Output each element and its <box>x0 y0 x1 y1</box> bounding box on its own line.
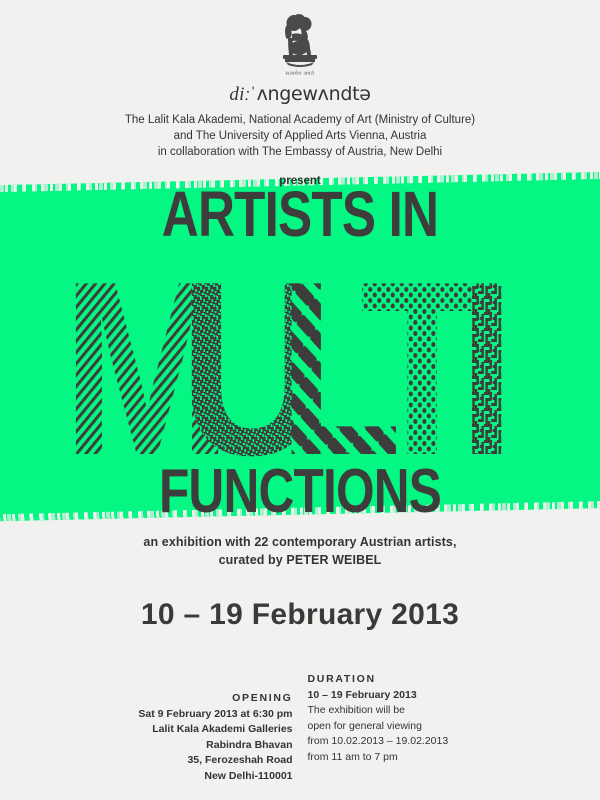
opening-line-3: Rabindra Bhavan <box>118 738 293 754</box>
poster-canvas: सत्यमेव जयते diːˈʌngewʌndtə The Lalit Ka… <box>0 0 600 800</box>
tagline-line-1: an exhibition with 22 contemporary Austr… <box>0 533 600 551</box>
ashoka-lion-capital-emblem <box>272 12 328 74</box>
duration-dates: 10 – 19 February 2013 <box>308 688 483 704</box>
tagline-line-2: curated by PETER WEIBEL <box>0 551 600 569</box>
duration-line-1: The exhibition will be <box>308 703 483 719</box>
angewandte-wordmark: diːˈʌngewʌndtə <box>0 83 600 106</box>
tagline-block: an exhibition with 22 contemporary Austr… <box>0 533 600 569</box>
duration-column: DURATION 10 – 19 February 2013 The exhib… <box>293 672 483 765</box>
emblem-caption: सत्यमेव जयते <box>0 71 600 77</box>
presenter-line-1: The Lalit Kala Akademi, National Academy… <box>0 112 600 128</box>
opening-line-5: New Delhi-110001 <box>118 769 293 785</box>
opening-heading: OPENING <box>118 691 293 707</box>
duration-line-2: open for general viewing <box>308 719 483 735</box>
poster-header: सत्यमेव जयते diːˈʌngewʌndtə <box>0 12 600 106</box>
presenter-line-3: in collaboration with The Embassy of Aus… <box>0 144 600 160</box>
duration-line-4: from 11 am to 7 pm <box>308 750 483 766</box>
multi-letter-I: I <box>458 248 510 468</box>
exhibition-dates-headline: 10 – 19 February 2013 <box>0 598 600 632</box>
title-line-artists-in: ARTISTS IN <box>60 182 540 246</box>
info-columns: OPENING Sat 9 February 2013 at 6:30 pm L… <box>0 672 600 784</box>
opening-line-2: Lalit Kala Akademi Galleries <box>118 722 293 738</box>
title-line-multi: M U L T I <box>0 248 600 468</box>
presenter-line-2: and The University of Applied Arts Vienn… <box>0 128 600 144</box>
opening-line-1: Sat 9 February 2013 at 6:30 pm <box>118 707 293 723</box>
duration-heading: DURATION <box>308 672 483 688</box>
duration-line-3: from 10.02.2013 – 19.02.2013 <box>308 734 483 750</box>
opening-column: OPENING Sat 9 February 2013 at 6:30 pm L… <box>118 672 293 784</box>
opening-line-4: 35, Ferozeshah Road <box>118 753 293 769</box>
wordmark-main: ʌngewʌndtə <box>257 83 371 105</box>
title-line-functions: FUNCTIONS <box>60 461 540 523</box>
wordmark-prefix: diːˈ <box>229 84 256 105</box>
